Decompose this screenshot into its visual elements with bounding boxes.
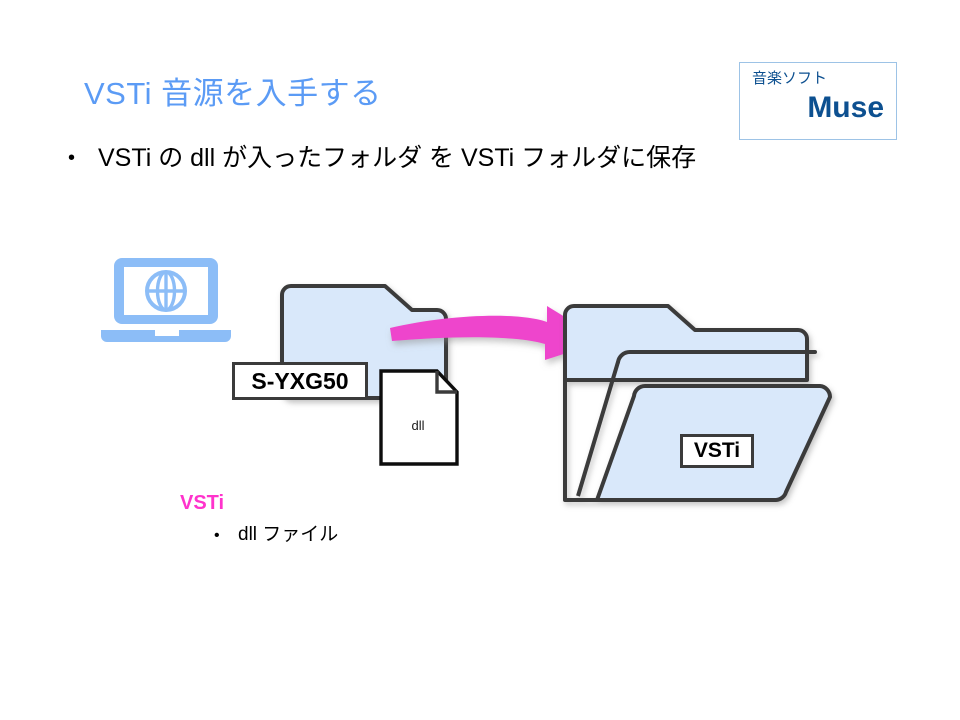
- brand-name: Muse: [740, 89, 884, 127]
- sub-bullet-marker-icon: •: [214, 523, 238, 549]
- dll-document-label: dll: [383, 418, 453, 433]
- sub-bullet-text: dll ファイル: [238, 524, 338, 545]
- target-folder-label: VSTi: [680, 434, 754, 468]
- transfer-arrow-icon: [390, 306, 604, 360]
- page-title: VSTi 音源を入手する: [84, 74, 382, 114]
- main-bullet-line: •VSTi の dll が入ったフォルダ を VSTi フォルダに保存: [68, 140, 696, 176]
- source-folder-label: S-YXG50: [232, 362, 368, 400]
- target-folder-shape: [565, 306, 830, 500]
- brand-logo-box: 音楽ソフト Muse: [739, 62, 897, 140]
- bullet-marker-icon: •: [68, 140, 98, 176]
- sub-list-item: •dll ファイル: [214, 522, 338, 549]
- sub-list-heading: VSTi: [180, 490, 224, 516]
- main-bullet-text: VSTi の dll が入ったフォルダ を VSTi フォルダに保存: [98, 144, 696, 172]
- slide-canvas: VSTi 音源を入手する 音楽ソフト Muse •VSTi の dll が入った…: [0, 0, 960, 720]
- brand-subtitle: 音楽ソフト: [752, 69, 827, 89]
- laptop-globe-icon: [101, 258, 231, 342]
